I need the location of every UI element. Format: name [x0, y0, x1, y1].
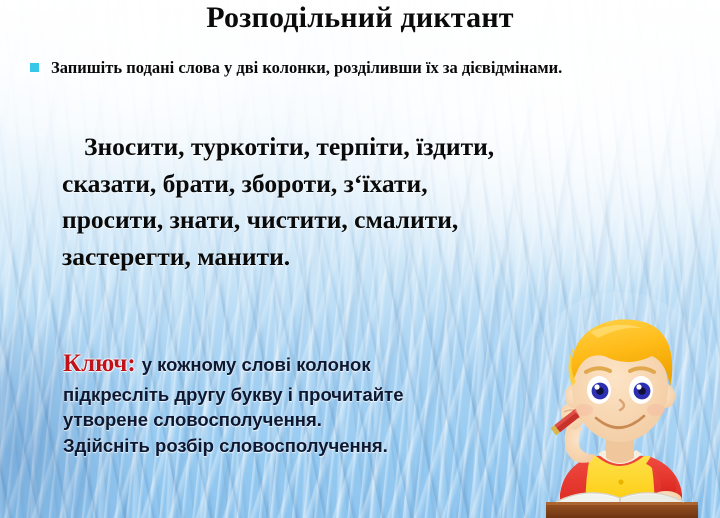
word-list: Зносити, туркотіти, терпіти, їздити, ска… [62, 129, 662, 276]
word-list-line: застерегти, манити. [62, 239, 662, 276]
instruction-bullet-row: Запишіть подані слова у дві колонки, роз… [30, 57, 680, 78]
page-title: Розподільний диктант [0, 1, 720, 35]
key-label: Ключ: [63, 350, 136, 377]
key-line-2: підкресліть другу букву і прочитайте [63, 382, 493, 408]
slide-canvas: Розподільний диктант Запишіть подані сло… [0, 0, 720, 518]
word-list-line: Зносити, туркотіти, терпіти, їздити, [62, 129, 662, 166]
square-bullet-icon [30, 63, 39, 72]
key-first-line: Ключ:у кожному слові колонок [63, 347, 493, 382]
key-line-1-rest: у кожному слові колонок [142, 354, 371, 375]
boy-writing-illustration [520, 290, 720, 518]
word-list-line: просити, знати, чистити, смалити, [62, 202, 662, 239]
instruction-text: Запишіть подані слова у дві колонки, роз… [51, 57, 562, 78]
key-block: Ключ:у кожному слові колонок підкресліть… [63, 347, 493, 458]
key-line-3: утворене словосполучення. [63, 407, 493, 433]
key-line-4: Здійсніть розбір словосполучення. [63, 433, 493, 459]
word-list-line: сказати, брати, збороти, з‘їхати, [62, 166, 662, 203]
